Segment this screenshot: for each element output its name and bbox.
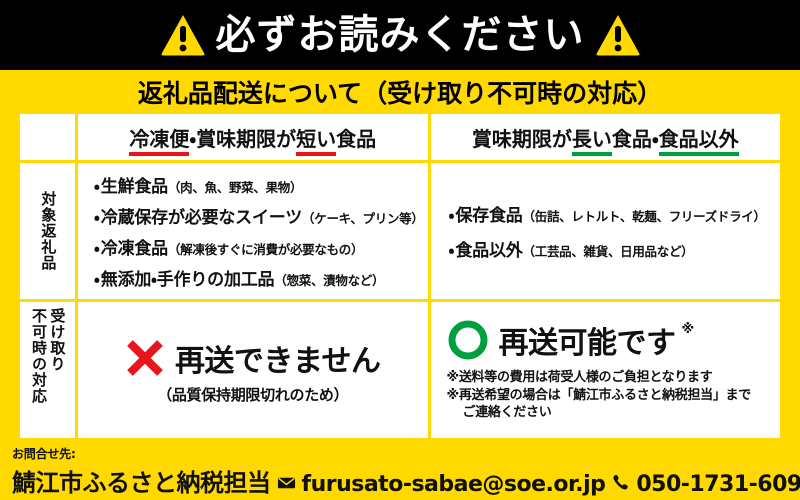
row-label-text: 対象返礼品 bbox=[39, 191, 57, 271]
column-header-long: 賞味期限が長い食品・食品以外 bbox=[431, 114, 781, 160]
bullet-dot: ・ bbox=[94, 208, 100, 228]
result-notes: ※送料等の費用は荷受人様のご負担となります ※再送希望の場合は「鯖江市ふるさと納… bbox=[447, 370, 751, 423]
result-headline: 再送可能です ※ bbox=[447, 318, 695, 362]
col-head-part: 長い bbox=[572, 127, 612, 156]
table-corner-cell bbox=[20, 114, 75, 160]
envelope-icon bbox=[277, 473, 296, 492]
table-row: 対象返礼品 ・生鮮食品（肉、魚、野菜、果物） ・冷蔵保存が必要なスイーツ（ケーキ… bbox=[20, 163, 780, 299]
contact-footer: お問合せ先: 鯖江市ふるさと納税担当 furusato-sabae@soe.or… bbox=[0, 438, 800, 500]
column-header-long-text: 賞味期限が長い食品・食品以外 bbox=[472, 123, 739, 152]
warning-triangle-icon bbox=[160, 13, 206, 57]
poster-header: 必ずお読みください bbox=[0, 0, 800, 70]
list-item-sub: （工芸品、雑貨、日用品など） bbox=[523, 244, 694, 259]
bullet-list: ・保存食品（缶詰、レトルト、乾麺、フリーズドライ） ・食品以外（工芸品、雑貨、日… bbox=[431, 201, 780, 261]
notice-poster: 必ずお読みください 返礼品配送について（受け取り不可時の対応） 冷凍便・賞味期限… bbox=[0, 0, 800, 500]
col-head-part: 賞味期限が bbox=[472, 127, 572, 151]
comparison-table: 冷凍便・賞味期限が短い食品 賞味期限が長い食品・食品以外 対象返礼品 ・生鮮食品… bbox=[20, 114, 780, 438]
table-row: 受け取り 不可時の対応 再送できません （品質保持期限切れのた bbox=[20, 302, 780, 438]
cell-response-long: 再送可能です ※ ※送料等の費用は荷受人様のご負担となります ※再送希望の場合は… bbox=[431, 302, 781, 438]
list-item: ・冷凍食品（解凍後すぐに消費が必要なもの） bbox=[94, 234, 424, 259]
cell-target-items-short: ・生鮮食品（肉、魚、野菜、果物） ・冷蔵保存が必要なスイーツ（ケーキ、プリン等）… bbox=[78, 163, 428, 299]
bullet-dot: ・ bbox=[94, 270, 100, 290]
warning-triangle-icon bbox=[595, 13, 641, 57]
row-label-response: 受け取り 不可時の対応 bbox=[20, 302, 75, 438]
list-item-main: 無添加・手作りの加工品 bbox=[101, 270, 275, 290]
list-item-main: 冷凍食品 bbox=[101, 239, 168, 259]
comparison-table-wrapper: 冷凍便・賞味期限が短い食品 賞味期限が長い食品・食品以外 対象返礼品 ・生鮮食品… bbox=[0, 114, 800, 438]
list-item-sub: （解凍後すぐに消費が必要なもの） bbox=[168, 242, 363, 257]
list-item: ・保存食品（缶詰、レトルト、乾麺、フリーズドライ） bbox=[449, 201, 776, 226]
list-item: ・生鮮食品（肉、魚、野菜、果物） bbox=[94, 172, 424, 197]
phone-icon bbox=[611, 473, 630, 492]
table-header-row: 冷凍便・賞味期限が短い食品 賞味期限が長い食品・食品以外 bbox=[20, 114, 780, 160]
contact-phone[interactable]: 050-1731-6099 bbox=[636, 472, 800, 497]
contact-email[interactable]: furusato-sabae@soe.or.jp bbox=[302, 472, 606, 497]
result-headline: 再送できません bbox=[125, 336, 381, 380]
note-line: ※送料等の費用は荷受人様のご負担となります bbox=[447, 370, 751, 387]
bullet-dot: ・ bbox=[449, 241, 455, 261]
col-head-part: 冷凍便 bbox=[129, 127, 189, 156]
list-item: ・無添加・手作りの加工品（惣菜、漬物など） bbox=[94, 265, 424, 290]
list-item-main: 生鮮食品 bbox=[101, 177, 168, 197]
list-item-sub: （ケーキ、プリン等） bbox=[302, 211, 424, 226]
page-title: 必ずお読みください bbox=[216, 15, 585, 55]
contact-line: 鯖江市ふるさと納税担当 furusato-sabae@soe.or.jp 050… bbox=[12, 463, 788, 498]
result-asterisk: ※ bbox=[682, 322, 695, 337]
contact-label: お問合せ先: bbox=[12, 445, 788, 462]
result-no-resend: 再送できません （品質保持期限切れのため） bbox=[78, 302, 428, 438]
bullet-dot: ・ bbox=[449, 206, 455, 226]
row-label-columns: 受け取り 不可時の対応 bbox=[30, 302, 66, 438]
list-item-main: 保存食品 bbox=[455, 206, 522, 226]
row-label-text: 不可時の対応 bbox=[30, 308, 47, 404]
note-line: ※再送希望の場合は「鯖江市ふるさと納税担当」まで bbox=[447, 388, 751, 405]
x-mark-icon bbox=[125, 338, 165, 378]
list-item-sub: （惣菜、漬物など） bbox=[274, 273, 384, 288]
circle-mark-icon bbox=[447, 319, 489, 361]
column-header-short: 冷凍便・賞味期限が短い食品 bbox=[78, 114, 428, 160]
list-item: ・食品以外（工芸品、雑貨、日用品など） bbox=[449, 236, 776, 261]
contact-org: 鯖江市ふるさと納税担当 bbox=[12, 463, 271, 498]
result-text: 再送可能です bbox=[499, 318, 676, 362]
note-line: ご連絡ください bbox=[447, 405, 751, 422]
bullet-dot: ・ bbox=[94, 239, 100, 259]
result-note: （品質保持期限切れのため） bbox=[157, 384, 348, 405]
col-head-part: 食品・ bbox=[612, 127, 659, 151]
col-head-part: 食品 bbox=[336, 127, 376, 151]
row-label-text: 受け取り bbox=[48, 308, 65, 372]
bullet-list: ・生鮮食品（肉、魚、野菜、果物） ・冷蔵保存が必要なスイーツ（ケーキ、プリン等）… bbox=[78, 172, 428, 290]
cell-target-items-long: ・保存食品（缶詰、レトルト、乾麺、フリーズドライ） ・食品以外（工芸品、雑貨、日… bbox=[431, 163, 780, 299]
list-item-main: 冷蔵保存が必要なスイーツ bbox=[101, 208, 302, 228]
list-item-sub: （肉、魚、野菜、果物） bbox=[168, 180, 302, 195]
col-head-part: 短い bbox=[296, 127, 336, 156]
subtitle-text: 返礼品配送について（受け取り不可時の対応） bbox=[138, 74, 662, 110]
result-text: 再送できません bbox=[175, 336, 381, 380]
list-item-sub: （缶詰、レトルト、乾麺、フリーズドライ） bbox=[523, 209, 766, 224]
col-head-part: 食品以外 bbox=[659, 127, 739, 156]
list-item-main: 食品以外 bbox=[455, 241, 522, 261]
cell-response-short: 再送できません （品質保持期限切れのため） bbox=[78, 302, 428, 438]
subtitle-band: 返礼品配送について（受け取り不可時の対応） bbox=[0, 70, 800, 114]
column-header-short-text: 冷凍便・賞味期限が短い食品 bbox=[129, 123, 376, 152]
row-label-target-items: 対象返礼品 bbox=[20, 163, 75, 299]
list-item: ・冷蔵保存が必要なスイーツ（ケーキ、プリン等） bbox=[94, 203, 424, 228]
result-resend-ok: 再送可能です ※ ※送料等の費用は荷受人様のご負担となります ※再送希望の場合は… bbox=[431, 302, 781, 438]
bullet-dot: ・ bbox=[94, 177, 100, 197]
col-head-part: ・賞味期限が bbox=[189, 127, 296, 151]
